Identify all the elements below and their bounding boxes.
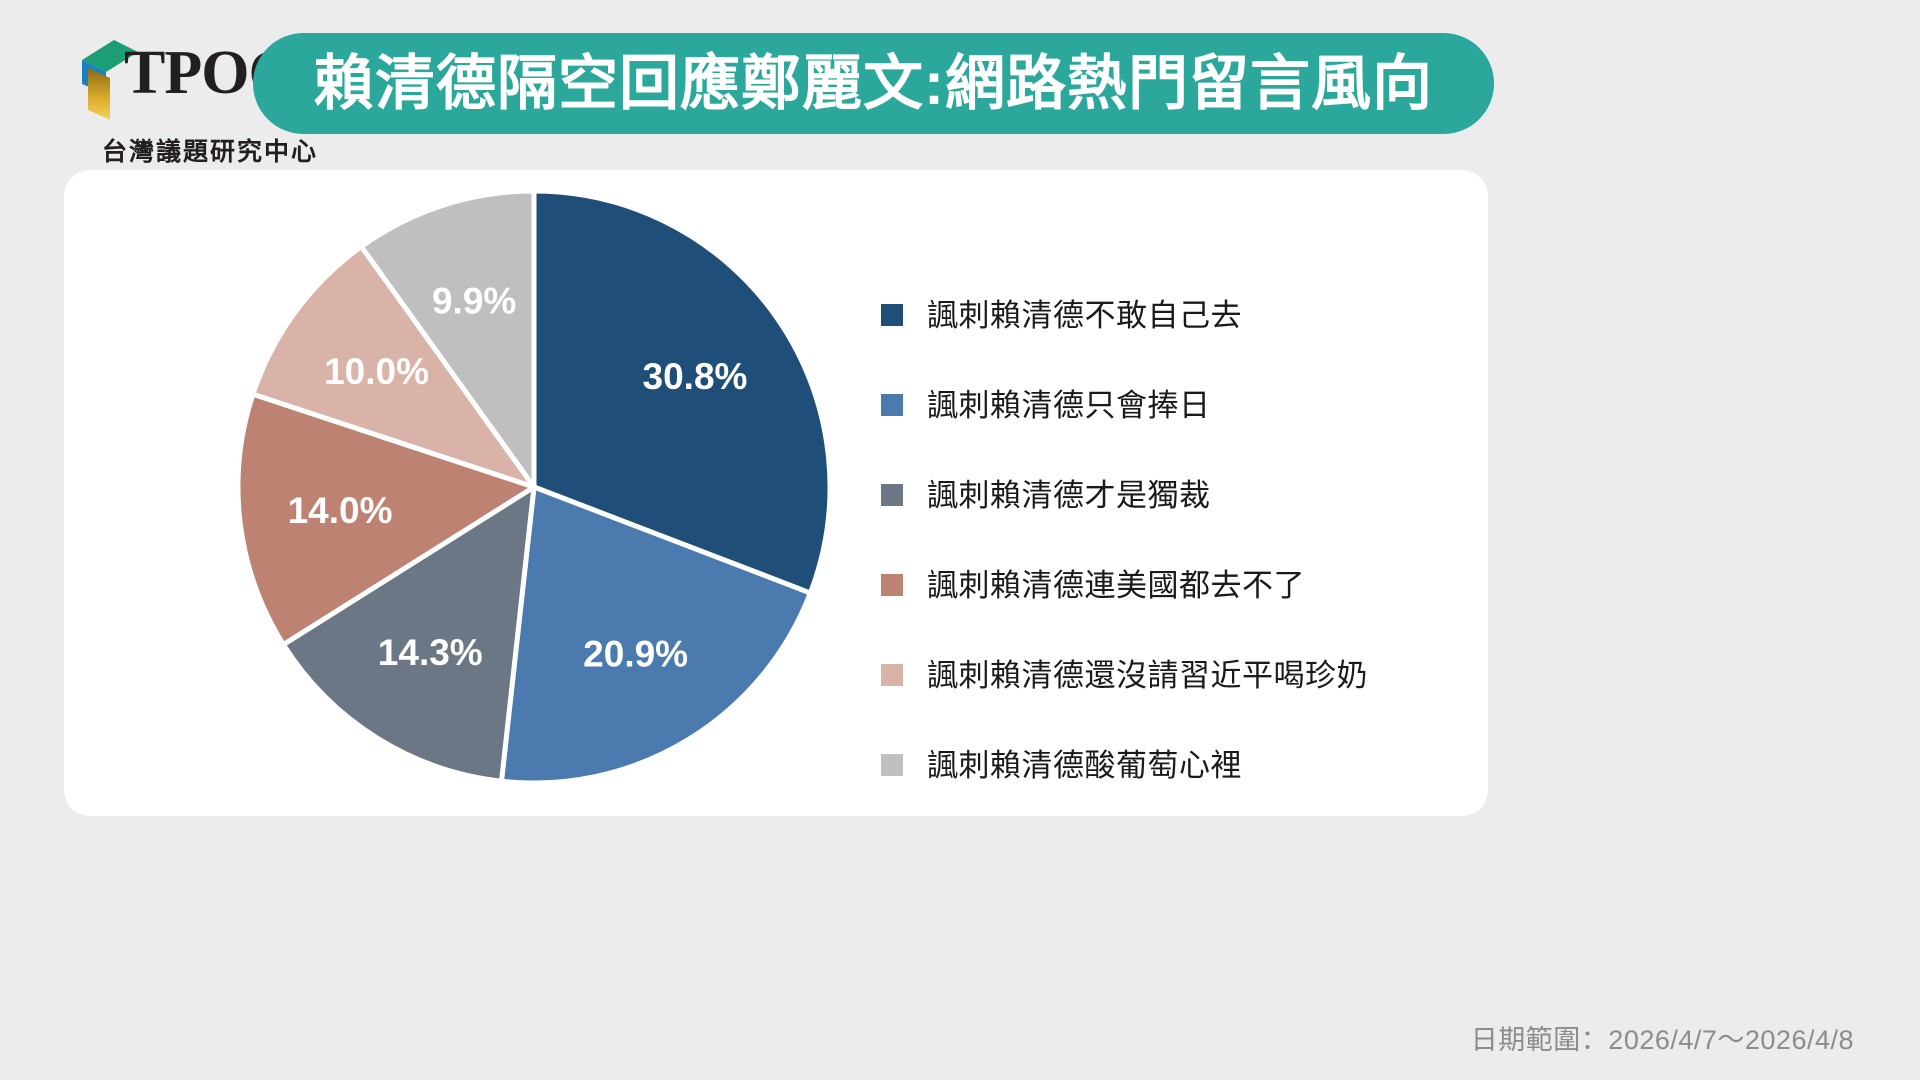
chart-card: 30.8%20.9%14.3%14.0%10.0%9.9% 諷刺賴清德不敢自己去… xyxy=(64,170,1488,816)
legend-swatch-icon xyxy=(881,754,903,776)
legend-swatch-icon xyxy=(881,574,903,596)
tpoc-logo: TPOC TAIWAN PUBLIC OPINION CENTER 台灣議題研究… xyxy=(52,34,287,149)
legend-item-label: 諷刺賴清德連美國都去不了 xyxy=(927,570,1305,601)
legend-item-label: 諷刺賴清德才是獨裁 xyxy=(927,480,1211,511)
legend-item: 諷刺賴清德不敢自己去 xyxy=(881,298,1441,332)
title-banner: 賴清德隔空回應鄭麗文:網路熱門留言風向 xyxy=(253,33,1494,134)
pie-slice-label: 9.9% xyxy=(432,281,516,322)
infographic-root: TPOC TAIWAN PUBLIC OPINION CENTER 台灣議題研究… xyxy=(0,0,1920,1080)
pie-chart-svg: 30.8%20.9%14.3%14.0%10.0%9.9% xyxy=(234,187,834,787)
pie-chart: 30.8%20.9%14.3%14.0%10.0%9.9% xyxy=(234,187,834,787)
pie-slice-label: 14.0% xyxy=(288,490,393,531)
legend-item: 諷刺賴清德只會捧日 xyxy=(881,388,1441,422)
date-range-label: 日期範圍：2026/4/7～2026/4/8 xyxy=(1471,1018,1854,1057)
legend-swatch-icon xyxy=(881,304,903,326)
legend-item: 諷刺賴清德酸葡萄心裡 xyxy=(881,748,1441,782)
legend-item-label: 諷刺賴清德酸葡萄心裡 xyxy=(927,750,1242,781)
chart-legend: 諷刺賴清德不敢自己去諷刺賴清德只會捧日諷刺賴清德才是獨裁諷刺賴清德連美國都去不了… xyxy=(881,298,1441,782)
legend-swatch-icon xyxy=(881,394,903,416)
pie-slice-label: 20.9% xyxy=(583,633,688,674)
legend-swatch-icon xyxy=(881,664,903,686)
legend-item-label: 諷刺賴清德只會捧日 xyxy=(927,390,1211,421)
pie-slice-group xyxy=(238,191,830,783)
legend-item: 諷刺賴清德才是獨裁 xyxy=(881,478,1441,512)
legend-item: 諷刺賴清德連美國都去不了 xyxy=(881,568,1441,602)
pie-slice-label: 30.8% xyxy=(643,356,748,397)
pie-slice-label: 14.3% xyxy=(378,632,483,673)
legend-item-label: 諷刺賴清德不敢自己去 xyxy=(927,300,1242,331)
legend-item-label: 諷刺賴清德還沒請習近平喝珍奶 xyxy=(927,660,1368,691)
page-title: 賴清德隔空回應鄭麗文:網路熱門留言風向 xyxy=(314,54,1433,114)
page-header: TPOC TAIWAN PUBLIC OPINION CENTER 台灣議題研究… xyxy=(0,0,1920,182)
pie-slice-label: 10.0% xyxy=(324,351,429,392)
tpoc-subtitle: 台灣議題研究中心 xyxy=(102,132,318,168)
legend-swatch-icon xyxy=(881,484,903,506)
legend-item: 諷刺賴清德還沒請習近平喝珍奶 xyxy=(881,658,1441,692)
